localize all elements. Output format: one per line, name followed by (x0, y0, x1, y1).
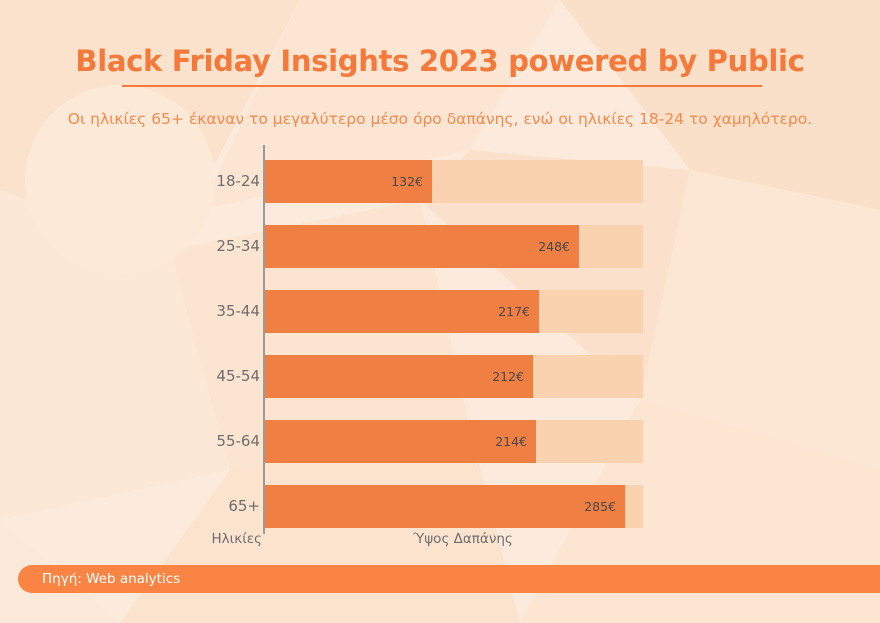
bar-fill: 214€ (265, 420, 536, 463)
page-title: Black Friday Insights 2023 powered by Pu… (0, 44, 880, 78)
infographic-canvas: Black Friday Insights 2023 powered by Pu… (0, 0, 880, 623)
title-divider (122, 85, 762, 87)
x-axis-caption: Ύψος Δαπάνης (265, 531, 661, 547)
page-subtitle: Οι ηλικίες 65+ έκαναν το μεγαλύτερο μέσο… (0, 110, 880, 128)
bar-fill: 248€ (265, 225, 579, 268)
category-label: 18-24 (60, 160, 260, 203)
bar-chart-plot: 132€18-24248€25-34217€35-44212€45-54214€… (0, 0, 880, 623)
bar-value-label: 214€ (495, 434, 527, 449)
source-label: Πηγή: Web analytics (42, 565, 180, 593)
category-label: 25-34 (60, 225, 260, 268)
bar-fill: 132€ (265, 160, 432, 203)
y-axis-line (263, 145, 265, 534)
bar-value-label: 217€ (498, 304, 530, 319)
bar-value-label: 212€ (492, 369, 524, 384)
y-axis-caption: Ηλικίες (60, 531, 262, 547)
category-label: 35-44 (60, 290, 260, 333)
category-label: 45-54 (60, 355, 260, 398)
category-label: 65+ (60, 485, 260, 528)
category-label: 55-64 (60, 420, 260, 463)
bar-value-label: 132€ (391, 174, 423, 189)
bar-fill: 285€ (265, 485, 625, 528)
bar-fill: 217€ (265, 290, 539, 333)
source-bar: Πηγή: Web analytics (18, 565, 880, 593)
bar-value-label: 248€ (538, 239, 570, 254)
bar-value-label: 285€ (584, 499, 616, 514)
bar-fill: 212€ (265, 355, 533, 398)
